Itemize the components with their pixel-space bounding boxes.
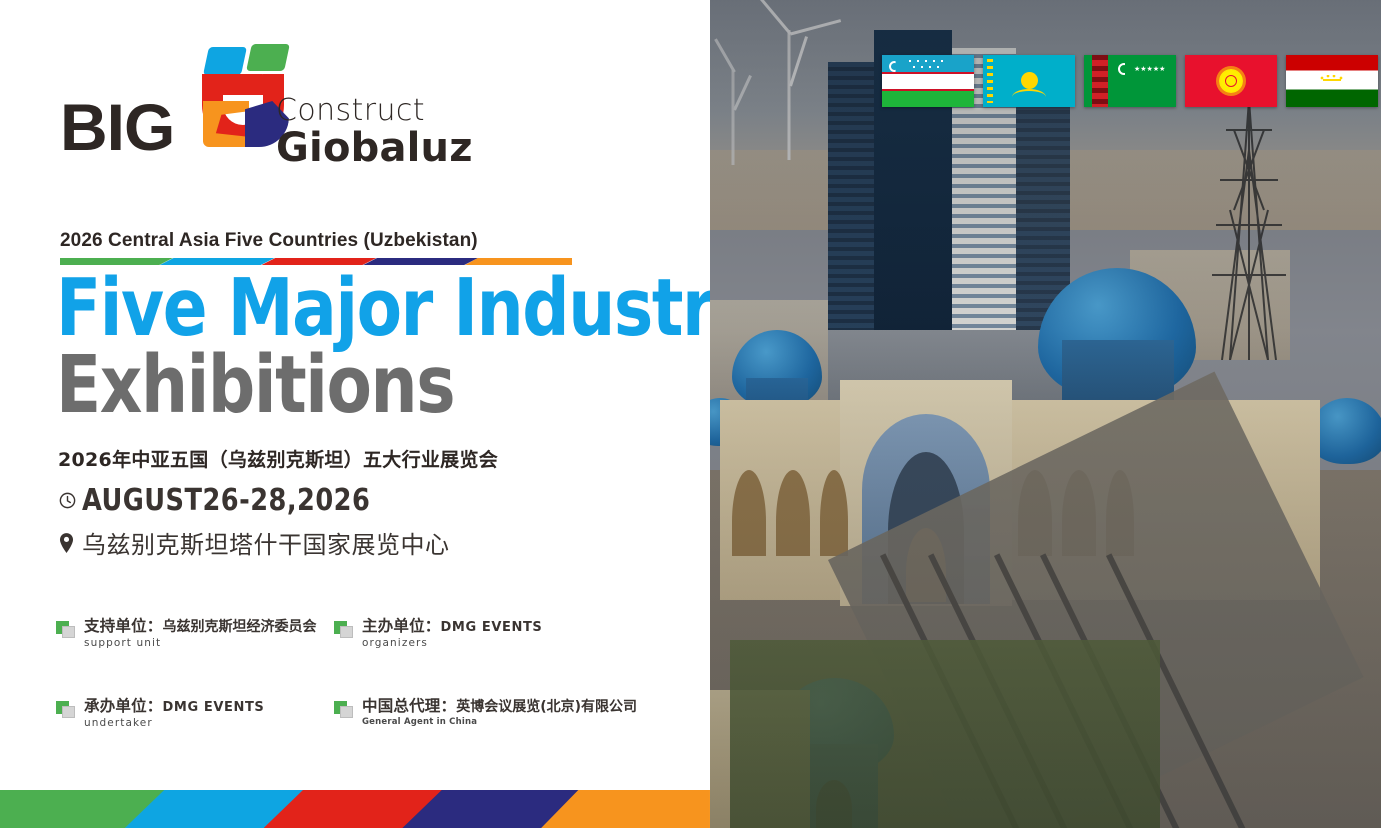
partner-label-en: undertaker bbox=[84, 718, 264, 729]
logo-big-text: BIG bbox=[60, 94, 174, 160]
left-content-panel: BIG Construct Giobaluz 2026 Central Asia… bbox=[0, 0, 710, 828]
partner-value: 英博会议展览(北京)有限公司 bbox=[456, 699, 637, 715]
partner-value: DMG EVENTS bbox=[163, 700, 265, 715]
partner-label: 中国总代理： bbox=[362, 697, 456, 715]
partner-label: 主办单位： bbox=[362, 617, 441, 635]
subtitle-chinese: 2026年中亚五国（乌兹别克斯坦）五大行业展览会 bbox=[58, 445, 498, 472]
flag-marker-icon bbox=[334, 701, 353, 718]
partner-label-en: organizers bbox=[362, 638, 542, 649]
partner-value: 乌兹别克斯坦经济委员会 bbox=[163, 619, 317, 635]
headline-block: Five Major Industry Exhibitions bbox=[56, 272, 808, 421]
logo-globaluz-text: Giobaluz bbox=[276, 128, 473, 168]
event-date-text: AUGUST26-28,2026 bbox=[82, 483, 370, 518]
logo-five-blue-bar bbox=[203, 47, 247, 75]
event-info-block: AUGUST26-28,2026 乌兹别克斯坦塔什干国家展览中心 bbox=[58, 483, 450, 567]
event-venue-text: 乌兹别克斯坦塔什干国家展览中心 bbox=[82, 525, 450, 560]
bottom-color-stripe bbox=[0, 790, 710, 828]
flag-marker-icon bbox=[334, 621, 353, 638]
tashkent-cityscape-photo: ★★★★★ bbox=[710, 0, 1381, 828]
partner-label-en: support unit bbox=[84, 638, 317, 649]
partner-label-en: General Agent in China bbox=[362, 718, 637, 727]
wind-turbine-icon bbox=[710, 70, 756, 165]
logo-wordmark: Construct Giobaluz bbox=[276, 96, 473, 168]
partner-label: 承办单位： bbox=[84, 697, 163, 715]
poster-root: BIG Construct Giobaluz 2026 Central Asia… bbox=[0, 0, 1381, 828]
logo-five-green-bar bbox=[246, 44, 290, 71]
photo-lawn bbox=[730, 640, 1160, 828]
partner-support-unit: 支持单位：乌兹别克斯坦经济委员会 support unit bbox=[56, 618, 334, 650]
partner-undertaker: 承办单位：DMG EVENTS undertaker bbox=[56, 698, 334, 730]
eyebrow-block: 2026 Central Asia Five Countries (Uzbeki… bbox=[60, 230, 580, 265]
wind-turbine-icon bbox=[758, 30, 820, 160]
eyebrow-text: 2026 Central Asia Five Countries (Uzbeki… bbox=[60, 230, 580, 252]
clock-icon bbox=[58, 491, 82, 510]
uzbekistan-flag bbox=[882, 55, 974, 107]
headline-line-1: Five Major Industry bbox=[56, 272, 755, 345]
event-venue-row: 乌兹别克斯坦塔什干国家展览中心 bbox=[58, 525, 450, 560]
partner-general-agent-china: 中国总代理：英博会议展览(北京)有限公司 General Agent in Ch… bbox=[334, 698, 624, 730]
partner-value: DMG EVENTS bbox=[441, 620, 543, 635]
country-flags-row: ★★★★★ bbox=[882, 55, 1378, 107]
location-pin-icon bbox=[58, 533, 82, 553]
flag-marker-icon bbox=[56, 701, 75, 718]
partner-organizers: 主办单位：DMG EVENTS organizers bbox=[334, 618, 624, 650]
partner-label: 支持单位： bbox=[84, 617, 163, 635]
flag-marker-icon bbox=[56, 621, 75, 638]
logo-construct-text: Construct bbox=[276, 96, 473, 126]
kazakhstan-flag bbox=[983, 55, 1075, 107]
tajikistan-flag bbox=[1286, 55, 1378, 107]
event-date-row: AUGUST26-28,2026 bbox=[58, 483, 450, 518]
kyrgyzstan-flag bbox=[1185, 55, 1277, 107]
headline-line-2: Exhibitions bbox=[56, 349, 755, 422]
turkmenistan-flag: ★★★★★ bbox=[1084, 55, 1176, 107]
partners-grid: 支持单位：乌兹别克斯坦经济委员会 support unit 主办单位：DMG E… bbox=[56, 618, 656, 729]
